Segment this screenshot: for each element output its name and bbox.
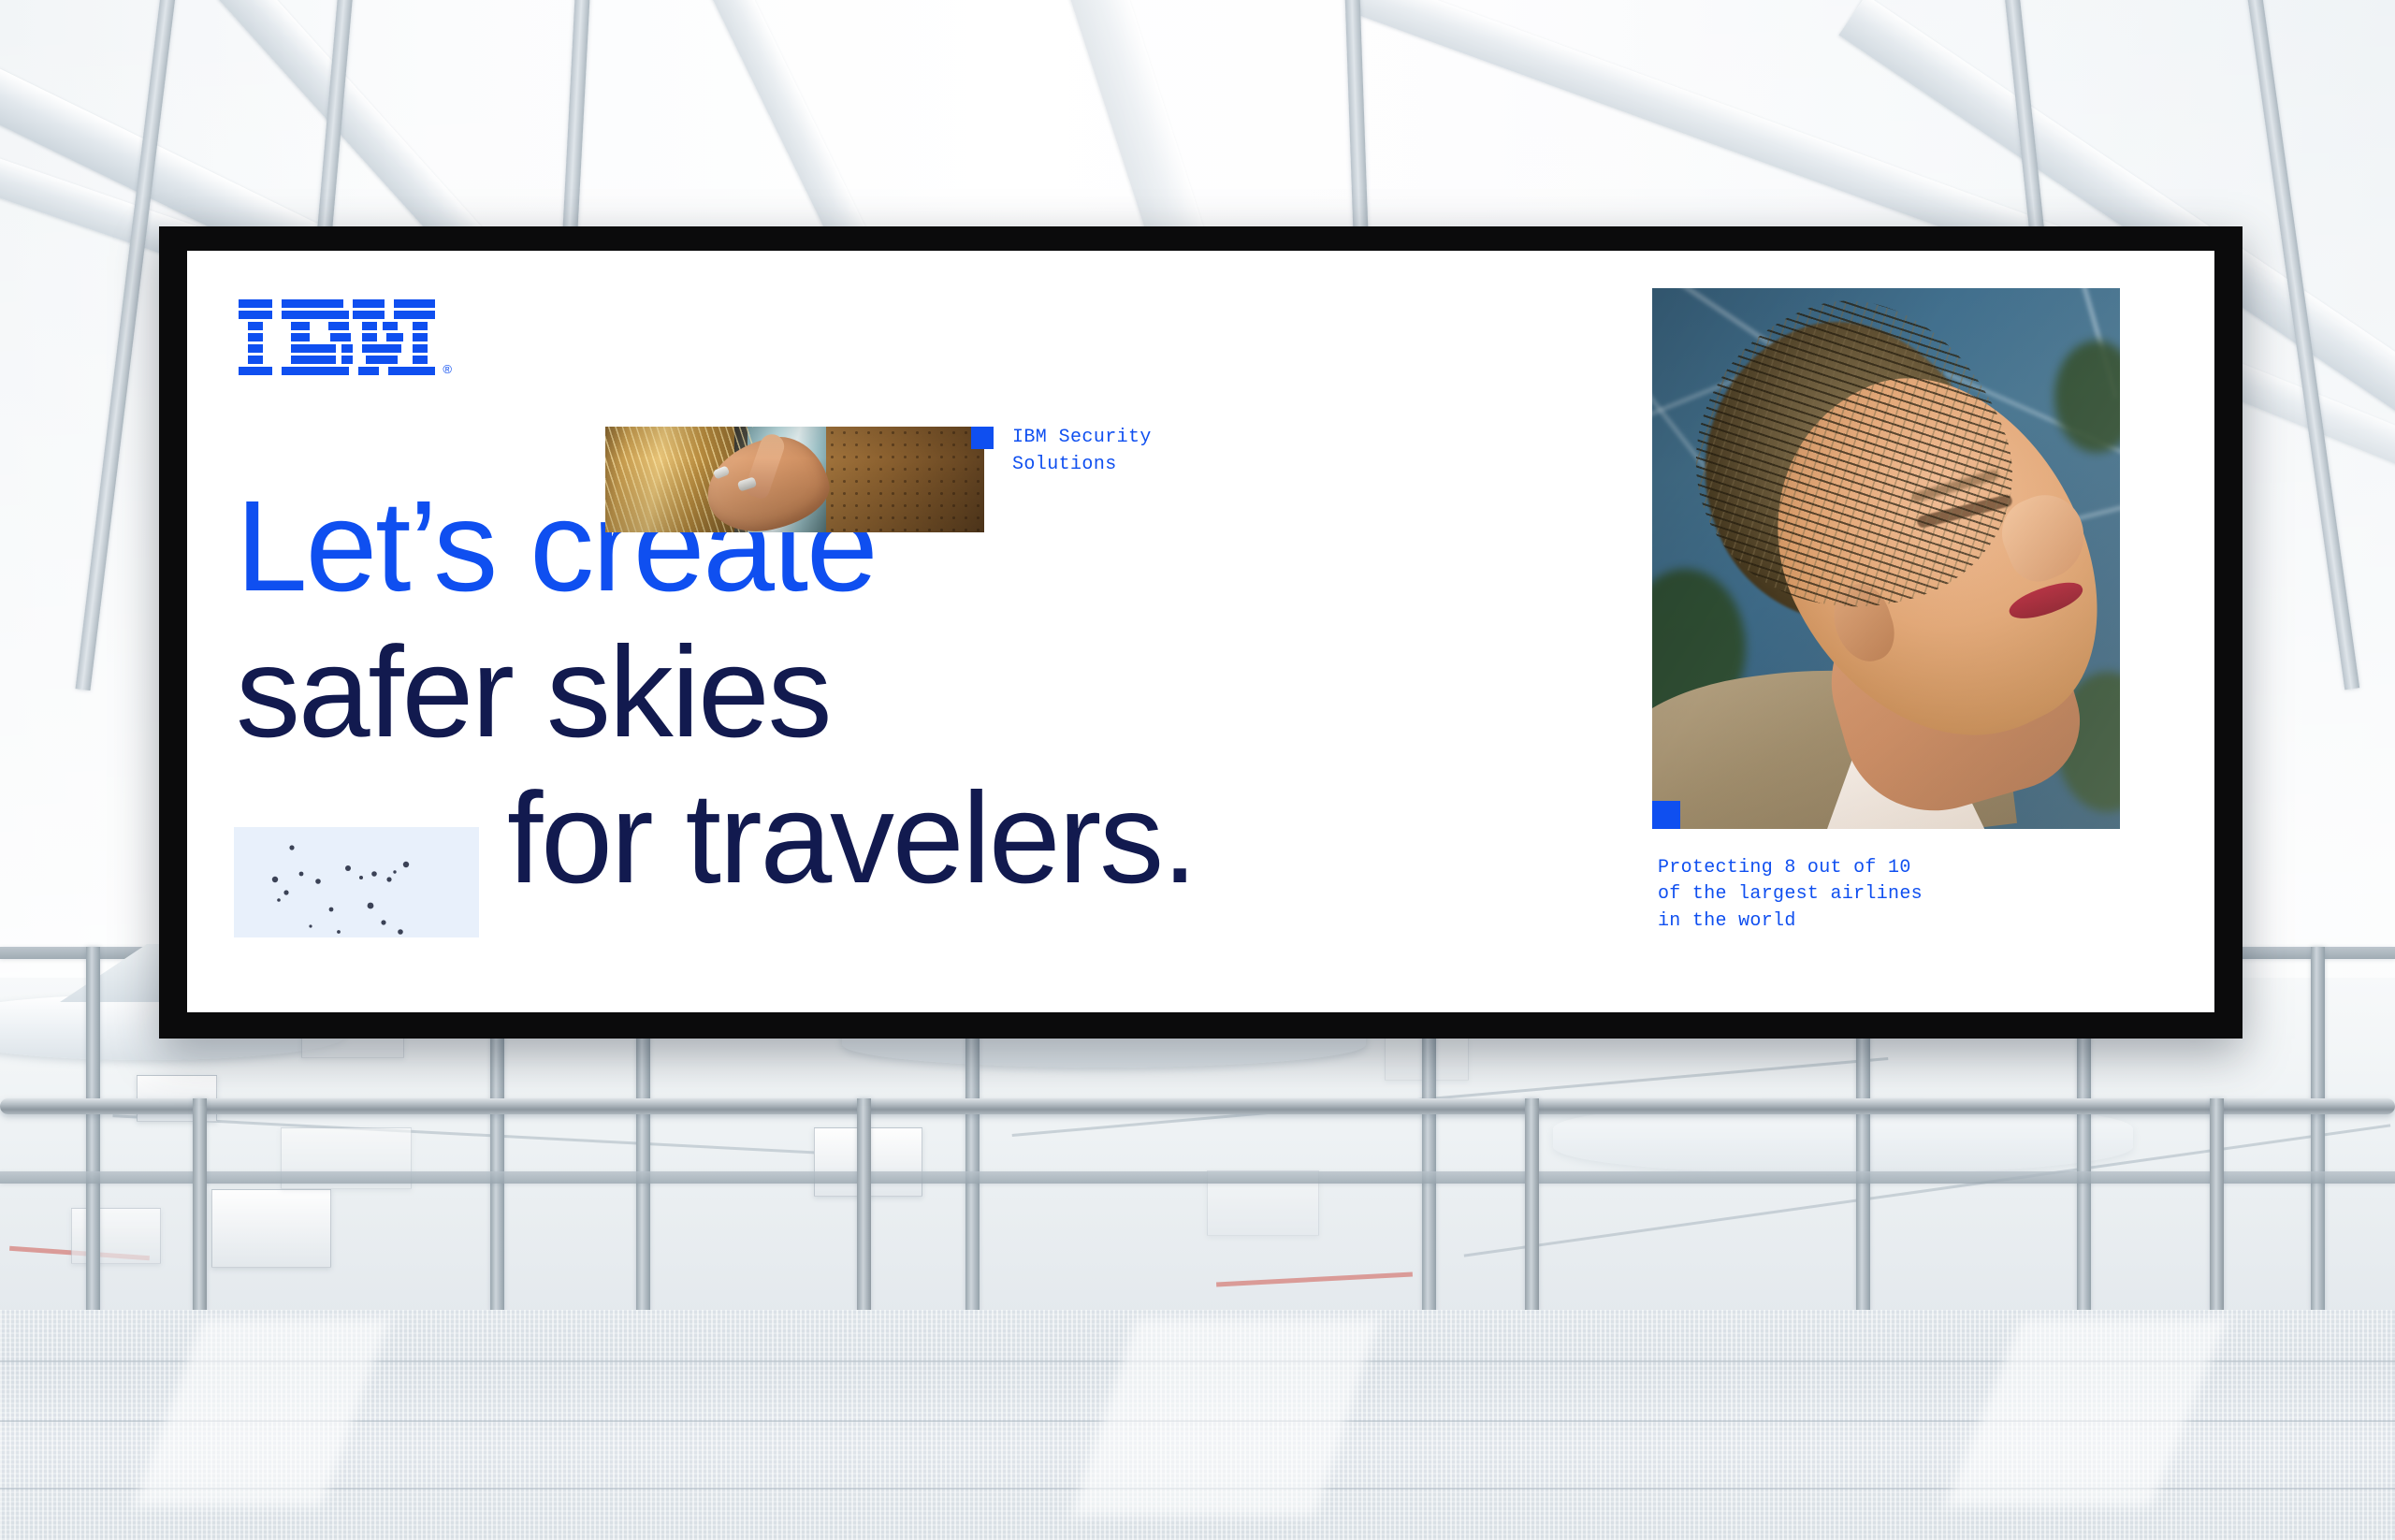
airport-terminal-scene: ® Let’s create safer skies for travelers… [0,0,2395,1540]
sunlight-shading [1652,288,2120,829]
airplane-window-hand-photo [605,427,984,532]
billboard-ad: ® Let’s create safer skies for travelers… [159,226,2243,1039]
woman-face-sun-photo [1652,288,2120,829]
handrail-upper [0,1098,2395,1114]
stat-caption: Protecting 8 out of 10 of the largest ai… [1658,855,2069,935]
eyebrow-label: IBM Security Solutions [1012,424,1321,478]
dotted-radar-swatch [234,827,479,937]
ground-support-vehicle [211,1189,331,1268]
ibm-logo: ® [239,299,435,380]
headline-line-2: safer skies [236,631,1405,756]
window-mullion [86,947,100,1340]
tarmac-marking [112,1114,822,1155]
registered-trademark-icon: ® [443,362,452,376]
tarmac-red-marking [1216,1272,1413,1287]
window-transom [0,1171,2395,1184]
blue-accent-marker-inset [971,427,994,449]
photo-vignette [605,427,984,532]
window-mullion [2311,947,2325,1340]
blue-accent-marker-portrait [1652,801,1680,829]
ground-support-vehicle [71,1208,161,1264]
terminal-floor [0,1310,2395,1540]
billboard-canvas: ® Let’s create safer skies for travelers… [187,251,2214,1012]
